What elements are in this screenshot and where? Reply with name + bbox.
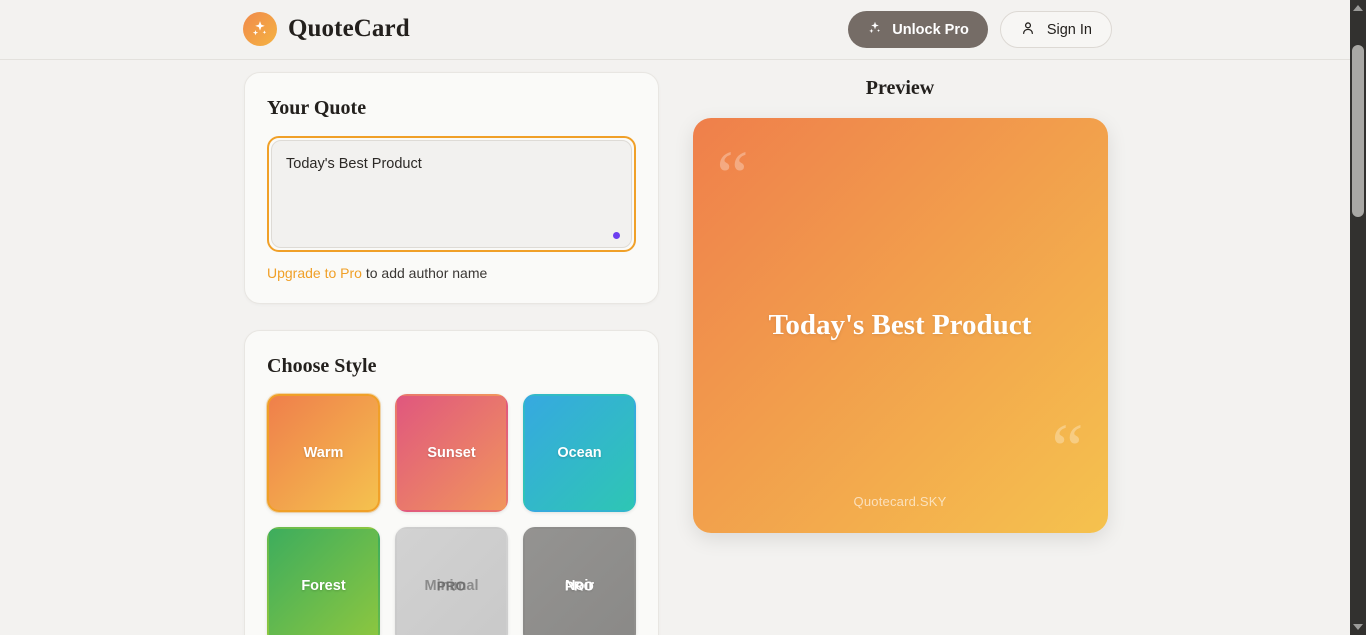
sparkle-icon	[243, 12, 277, 46]
quote-panel: Your Quote Upgrade to Pro to add author …	[244, 72, 659, 304]
editor-column: Your Quote Upgrade to Pro to add author …	[244, 72, 659, 635]
chevron-down-icon[interactable]	[1350, 619, 1366, 635]
app-header: QuoteCard Unlock Pro	[0, 0, 1350, 60]
author-upgrade-note-rest: to add author name	[362, 265, 487, 281]
quote-input-wrapper	[267, 136, 636, 252]
pro-badge: PRO	[565, 579, 594, 594]
preview-watermark: Quotecard.SKY	[693, 494, 1108, 509]
unlock-pro-label: Unlock Pro	[892, 22, 969, 38]
sign-in-button[interactable]: Sign In	[1000, 11, 1112, 48]
user-icon	[1020, 20, 1036, 40]
style-card-label: Ocean	[557, 445, 601, 461]
main-content: Your Quote Upgrade to Pro to add author …	[0, 61, 1350, 635]
scrollbar-thumb[interactable]	[1352, 45, 1364, 217]
style-panel-title: Choose Style	[267, 355, 636, 378]
quote-mark-close-icon: “	[1052, 413, 1084, 485]
upgrade-to-pro-link[interactable]: Upgrade to Pro	[267, 265, 362, 281]
style-panel: Choose Style WarmSunsetOceanForestMinima…	[244, 330, 659, 635]
sign-in-label: Sign In	[1047, 22, 1092, 38]
unlock-pro-button[interactable]: Unlock Pro	[848, 11, 988, 48]
quote-panel-title: Your Quote	[267, 97, 636, 120]
quote-textarea[interactable]	[271, 140, 632, 248]
pro-badge: PRO	[437, 579, 466, 594]
style-card-label: Forest	[301, 578, 345, 594]
brand-logo-link[interactable]: QuoteCard	[243, 12, 410, 46]
style-card-forest[interactable]: Forest	[267, 527, 380, 635]
style-card-label: Sunset	[427, 445, 475, 461]
brand-name: QuoteCard	[288, 15, 410, 43]
style-card-warm[interactable]: Warm	[267, 394, 380, 512]
style-card-minimal[interactable]: MinimalPRO	[395, 527, 508, 635]
style-card-sunset[interactable]: Sunset	[395, 394, 508, 512]
sparkle-icon	[867, 20, 883, 40]
page-scrollbar[interactable]	[1350, 0, 1366, 635]
style-card-ocean[interactable]: Ocean	[523, 394, 636, 512]
chevron-up-icon[interactable]	[1350, 0, 1366, 16]
preview-quote-text: Today's Best Product	[731, 307, 1070, 345]
style-grid: WarmSunsetOceanForestMinimalPRONoirPRO	[267, 394, 636, 635]
quote-mark-open-icon: “	[717, 140, 749, 212]
preview-card[interactable]: “ Today's Best Product “ Quotecard.SKY	[693, 118, 1108, 533]
page-viewport: images in seconds. QuoteCard	[0, 0, 1350, 635]
preview-title: Preview	[866, 77, 935, 100]
style-card-noir[interactable]: NoirPRO	[523, 527, 636, 635]
preview-column: Preview “ Today's Best Product “ Quoteca…	[676, 61, 1124, 533]
style-card-label: Warm	[304, 445, 344, 461]
author-upgrade-note: Upgrade to Pro to add author name	[267, 265, 636, 281]
header-actions: Unlock Pro Sign In	[848, 11, 1112, 48]
